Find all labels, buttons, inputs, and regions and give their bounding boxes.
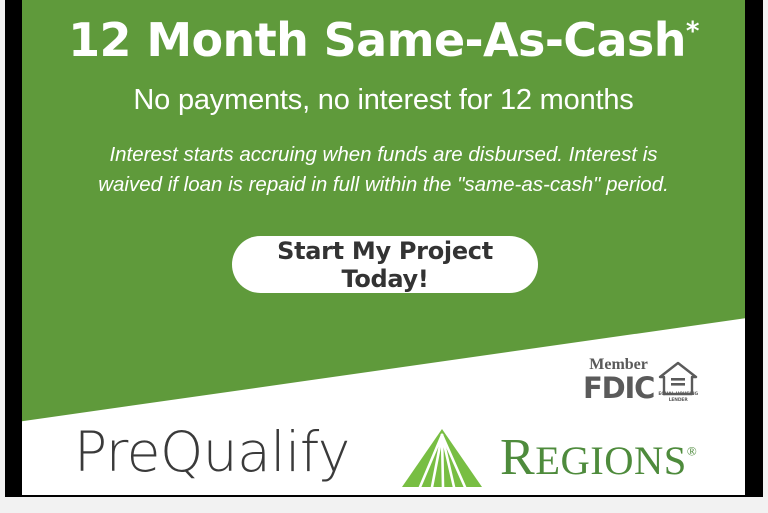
page-title: 12 Month Same-As-Cash* (22, 15, 745, 66)
equal-housing-caption: EQUAL HOUSING LENDER (658, 392, 698, 403)
subheadline: No payments, no interest for 12 months (22, 84, 745, 117)
banner-card: 12 Month Same-As-Cash* No payments, no i… (22, 0, 745, 495)
fdic-label: FDIC (583, 374, 654, 403)
regions-triangle-icon (400, 427, 484, 489)
headline-asterisk: * (686, 17, 699, 47)
start-my-project-button[interactable]: Start My Project Today! (232, 236, 538, 293)
regions-wordmark: REGIONS® (500, 432, 697, 484)
regions-wordmark-initial: R (500, 429, 535, 486)
regions-logo: REGIONS® (400, 427, 697, 489)
regions-wordmark-rest: EGIONS (535, 438, 687, 483)
equal-housing-lender-icon: EQUAL HOUSING LENDER (658, 361, 698, 403)
fdic-text-group: Member FDIC (583, 357, 654, 403)
headline-text: 12 Month Same-As-Cash (68, 13, 686, 67)
prequalify-label: PreQualify (74, 425, 350, 480)
equal-housing-line-2: LENDER (658, 398, 698, 404)
disclaimer-text: Interest starts accruing when funds are … (84, 140, 684, 199)
fdic-badge: Member FDIC EQUAL HOUSING LENDER (583, 357, 698, 403)
equal-housing-line-1: EQUAL HOUSING (658, 392, 698, 398)
banner-ad-root: 12 Month Same-As-Cash* No payments, no i… (0, 0, 768, 513)
registered-trademark-icon: ® (687, 444, 697, 459)
